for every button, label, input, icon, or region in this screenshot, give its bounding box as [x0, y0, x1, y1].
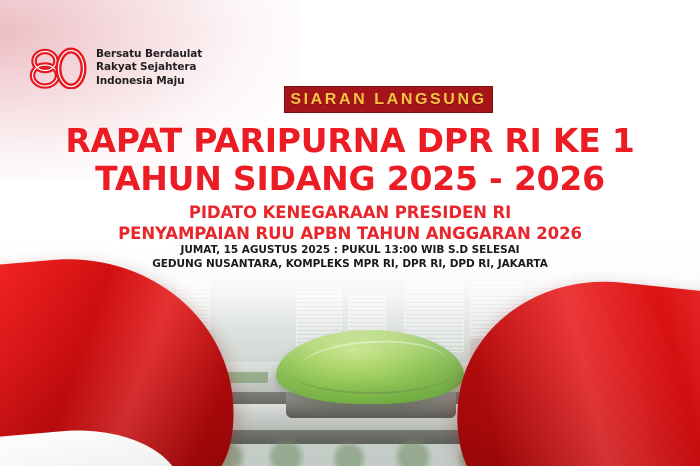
headline-line-2: TAHUN SIDANG 2025 - 2026	[0, 160, 700, 198]
logo-80-icon	[27, 47, 87, 89]
poster-headline: RAPAT PARIPURNA DPR RI KE 1 TAHUN SIDANG…	[0, 122, 700, 198]
logo-tagline-line-2: Rakyat Sejahtera	[96, 61, 196, 73]
poster-subheadline: PIDATO KENEGARAAN PRESIDEN RI PENYAMPAIA…	[0, 202, 700, 244]
headline-line-1: RAPAT PARIPURNA DPR RI KE 1	[0, 122, 700, 160]
logo-tagline-line-1: Bersatu Berdaulat	[96, 48, 202, 60]
anniversary-logo: Bersatu BerdaulatRakyat SejahteraIndones…	[27, 47, 202, 89]
broadcast-announcement-poster: Bersatu BerdaulatRakyat SejahteraIndones…	[0, 0, 700, 466]
logo-tagline: Bersatu BerdaulatRakyat SejahteraIndones…	[96, 48, 202, 88]
poster-event-details: JUMAT, 15 AGUSTUS 2025 : PUKUL 13:00 WIB…	[0, 243, 700, 271]
subheadline-line-2: PENYAMPAIAN RUU APBN TAHUN ANGGARAN 2026	[0, 223, 700, 244]
subheadline-line-1: PIDATO KENEGARAAN PRESIDEN RI	[0, 202, 700, 223]
logo-tagline-line-3: Indonesia Maju	[96, 75, 185, 87]
live-broadcast-badge: SIARAN LANGSUNG	[284, 86, 493, 113]
live-broadcast-label: SIARAN LANGSUNG	[290, 91, 486, 109]
event-datetime: JUMAT, 15 AGUSTUS 2025 : PUKUL 13:00 WIB…	[0, 243, 700, 257]
event-venue: GEDUNG NUSANTARA, KOMPLEKS MPR RI, DPR R…	[0, 257, 700, 271]
